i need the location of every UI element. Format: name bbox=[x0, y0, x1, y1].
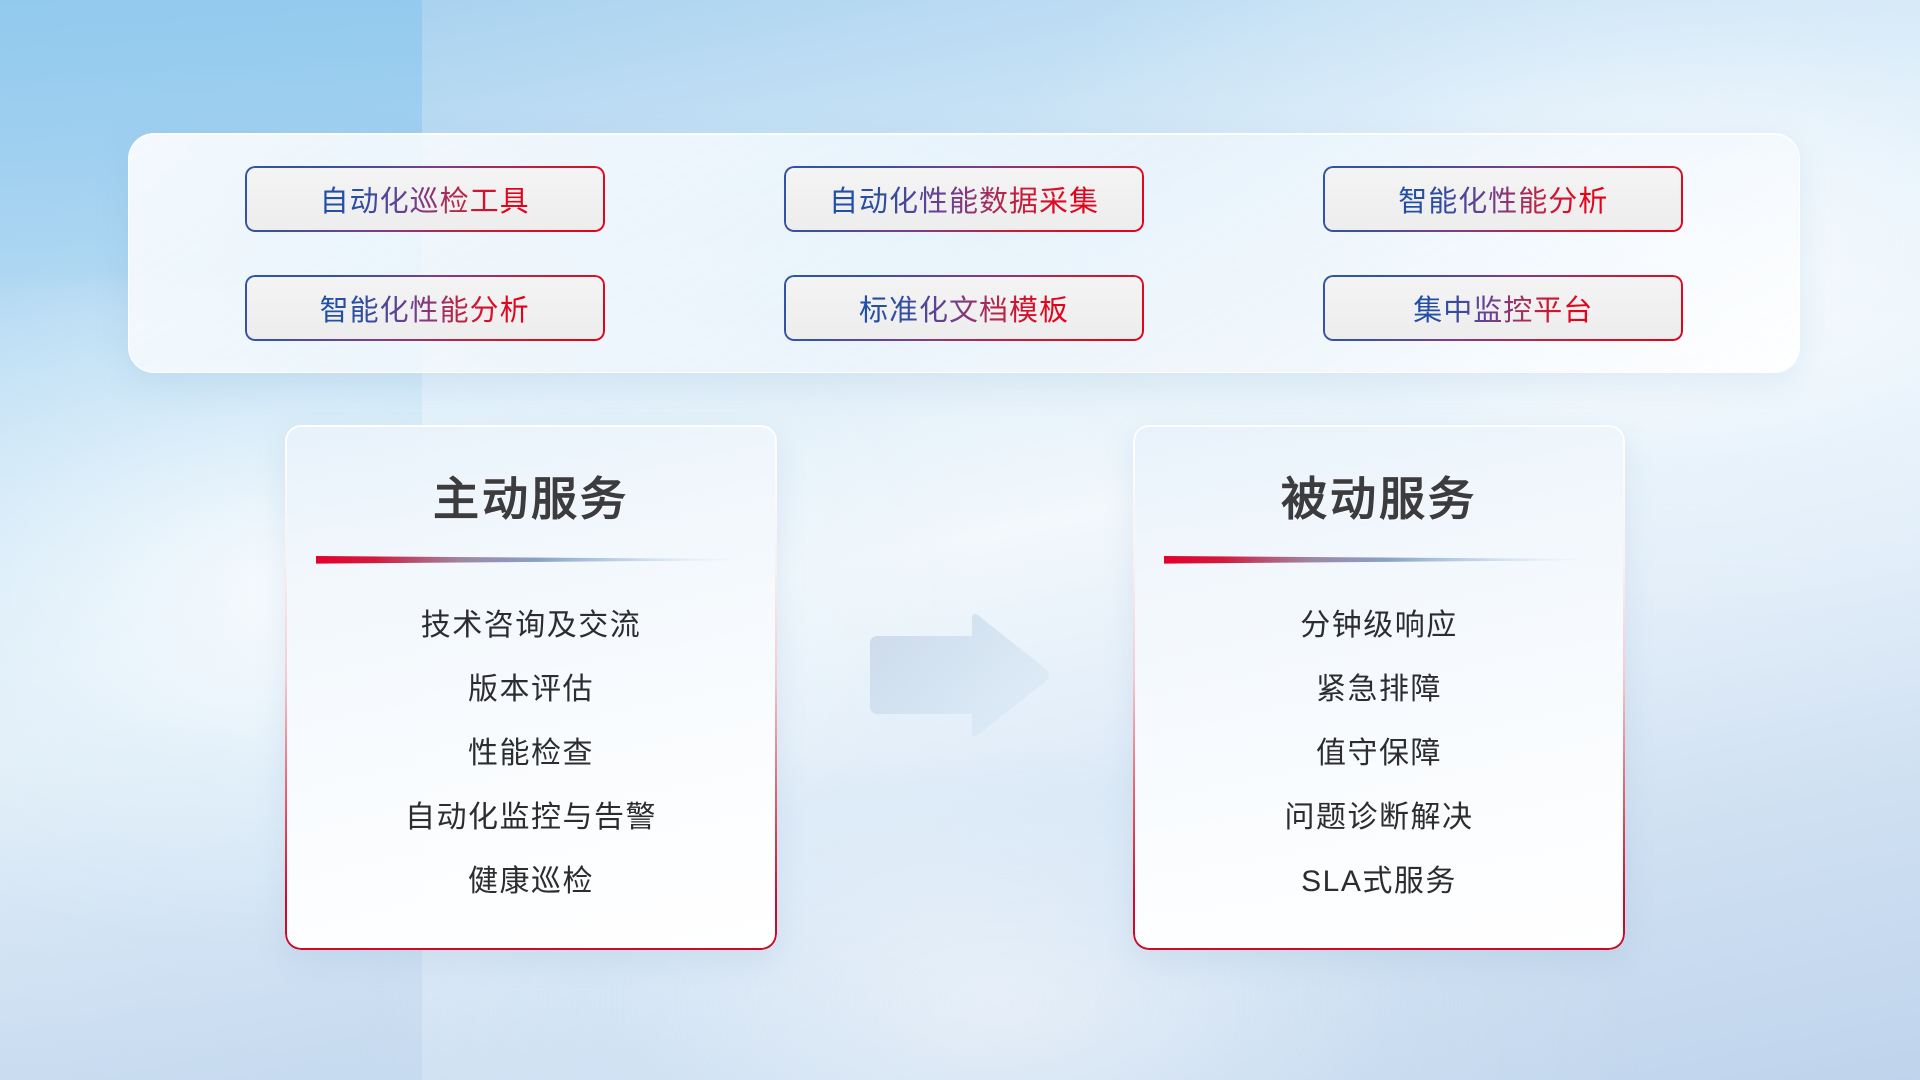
capability-pill-5[interactable]: 标准化文档模板 bbox=[784, 275, 1144, 341]
list-item: 版本评估 bbox=[285, 658, 777, 722]
capability-pill-label: 自动化巡检工具 bbox=[320, 178, 530, 220]
capability-pill-6[interactable]: 集中监控平台 bbox=[1323, 275, 1683, 341]
card-title-divider bbox=[316, 555, 746, 564]
capability-pill-label: 自动化性能数据采集 bbox=[829, 178, 1099, 220]
list-item: 自动化监控与告警 bbox=[285, 786, 777, 850]
list-item: 健康巡检 bbox=[285, 850, 777, 914]
capabilities-panel: 自动化巡检工具 自动化性能数据采集 智能化性能分析 智能化性能分析 标准化文档模… bbox=[128, 133, 1800, 373]
list-item: SLA式服务 bbox=[1133, 850, 1625, 914]
list-item: 值守保障 bbox=[1133, 722, 1625, 786]
service-card-proactive: 主动服务 技术咨询及交流 版本评估 性能检查 自动化监控与告警 健康巡检 bbox=[285, 425, 777, 950]
list-item: 紧急排障 bbox=[1133, 658, 1625, 722]
capability-pill-2[interactable]: 自动化性能数据采集 bbox=[784, 166, 1144, 232]
service-card-reactive: 被动服务 分钟级响应 紧急排障 值守保障 问题诊断解决 SLA式服务 bbox=[1133, 425, 1625, 950]
list-item: 分钟级响应 bbox=[1133, 594, 1625, 658]
list-item: 性能检查 bbox=[285, 722, 777, 786]
list-item: 问题诊断解决 bbox=[1133, 786, 1625, 850]
capability-pill-label: 集中监控平台 bbox=[1413, 287, 1593, 329]
card-title: 主动服务 bbox=[285, 463, 777, 529]
capability-pill-label: 智能化性能分析 bbox=[1398, 178, 1608, 220]
list-item: 技术咨询及交流 bbox=[285, 594, 777, 658]
capability-pill-label: 标准化文档模板 bbox=[859, 287, 1069, 329]
capability-pill-label: 智能化性能分析 bbox=[320, 287, 530, 329]
card-title-divider bbox=[1164, 555, 1594, 564]
capability-pill-4[interactable]: 智能化性能分析 bbox=[245, 275, 605, 341]
capability-pill-1[interactable]: 自动化巡检工具 bbox=[245, 166, 605, 232]
capability-pill-3[interactable]: 智能化性能分析 bbox=[1323, 166, 1683, 232]
service-list-proactive: 技术咨询及交流 版本评估 性能检查 自动化监控与告警 健康巡检 bbox=[285, 594, 777, 914]
service-list-reactive: 分钟级响应 紧急排障 值守保障 问题诊断解决 SLA式服务 bbox=[1133, 594, 1625, 914]
arrow-right-icon bbox=[866, 614, 1052, 736]
card-title: 被动服务 bbox=[1133, 463, 1625, 529]
